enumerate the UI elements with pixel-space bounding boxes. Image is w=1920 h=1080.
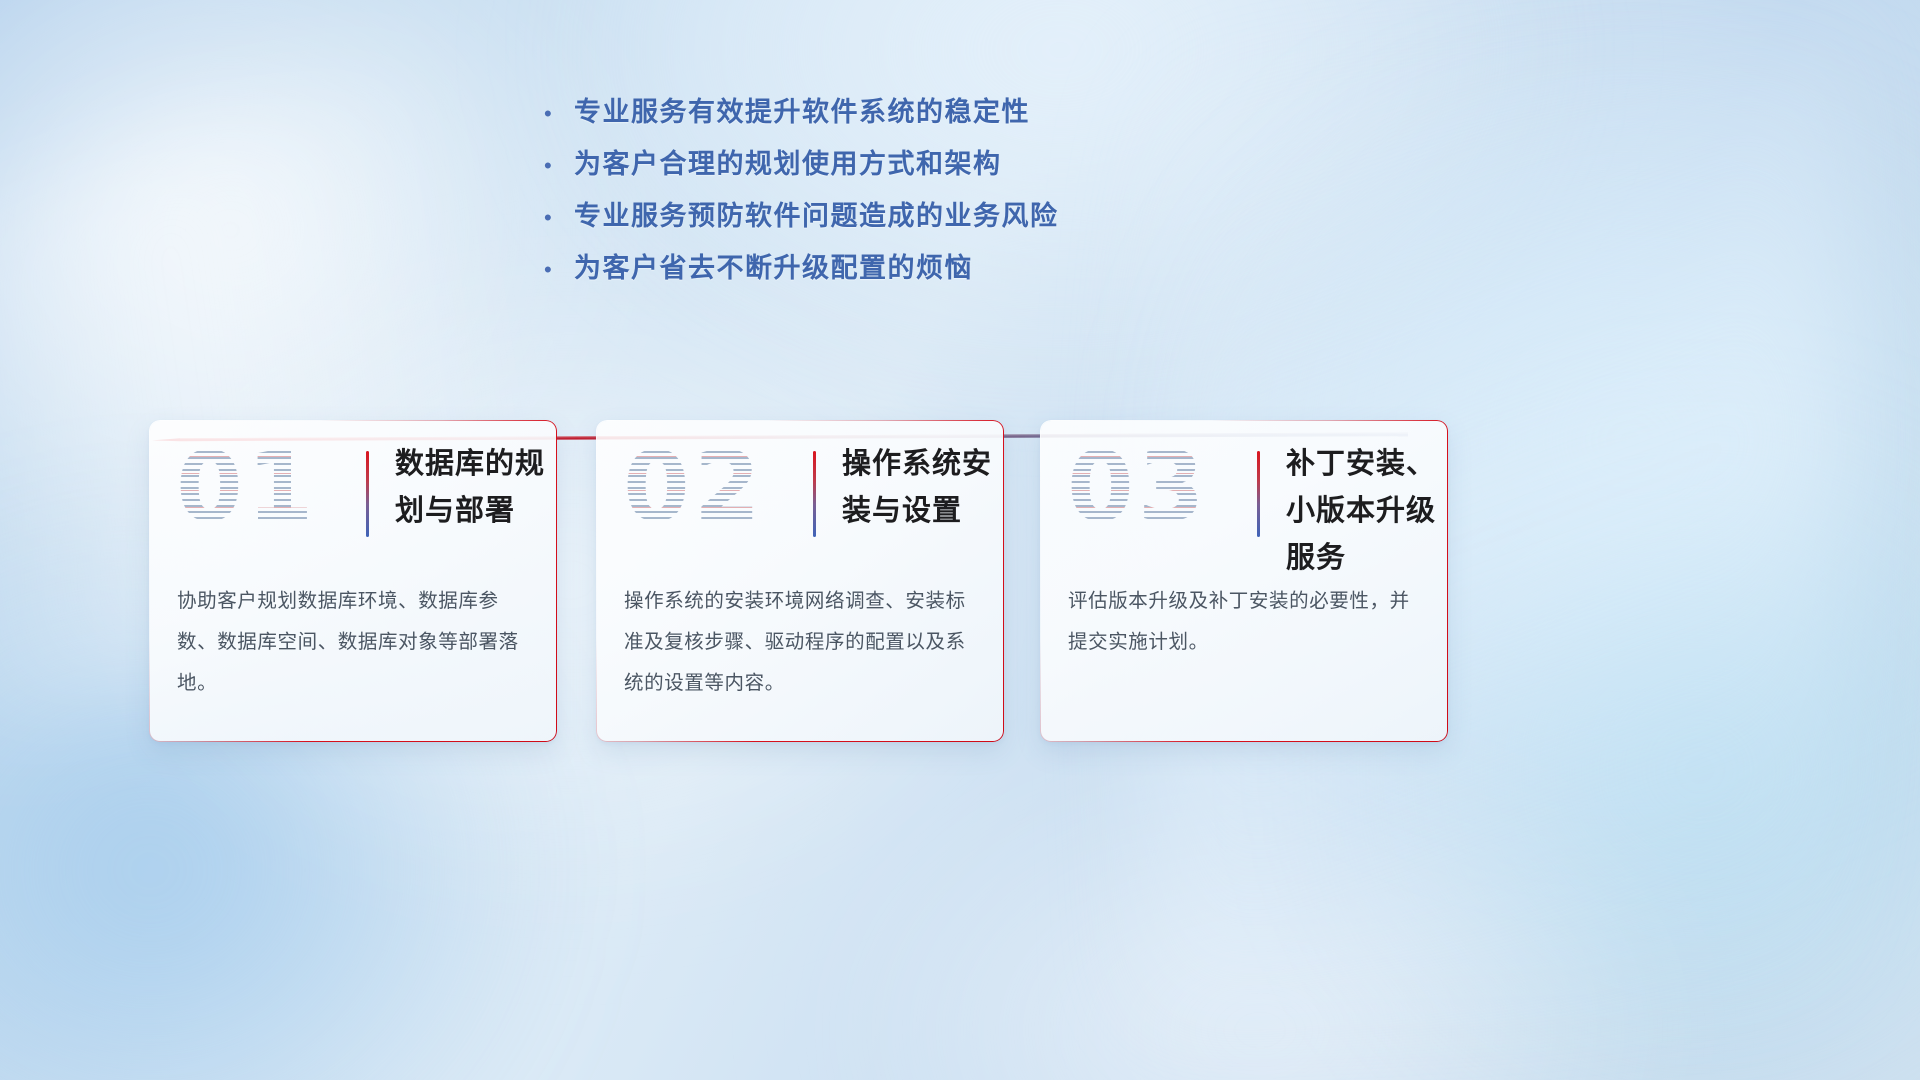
card-number-watermark: 01 bbox=[176, 439, 318, 535]
card-title: 数据库的规划与部署 bbox=[395, 441, 545, 535]
card-body-text: 评估版本升级及补丁安装的必要性，并提交实施计划。 bbox=[1068, 581, 1423, 663]
card-title: 操作系统安装与设置 bbox=[842, 441, 992, 535]
card-accent-bar bbox=[1257, 451, 1260, 537]
card-header: 02 02 操作系统安装与设置 bbox=[597, 421, 1003, 571]
service-card[interactable]: 01 01 数据库的规划与部署 协助客户规划数据库环境、数据库参数、数据库空间、… bbox=[150, 421, 556, 741]
service-card[interactable]: 02 02 操作系统安装与设置 操作系统的安装环境网络调查、安装标准及复核步骤、… bbox=[597, 421, 1003, 741]
service-card-list: 01 01 数据库的规划与部署 协助客户规划数据库环境、数据库参数、数据库空间、… bbox=[0, 0, 1920, 1080]
card-header: 01 01 数据库的规划与部署 bbox=[150, 421, 556, 571]
service-card[interactable]: 03 03 补丁安装、小版本升级服务 评估版本升级及补丁安装的必要性，并提交实施… bbox=[1041, 421, 1447, 741]
card-number-watermark: 03 bbox=[1067, 439, 1209, 535]
card-accent-bar bbox=[813, 451, 816, 537]
card-header: 03 03 补丁安装、小版本升级服务 bbox=[1041, 421, 1447, 571]
card-number-watermark: 02 bbox=[623, 439, 765, 535]
card-body-text: 协助客户规划数据库环境、数据库参数、数据库空间、数据库对象等部署落地。 bbox=[177, 581, 532, 704]
card-body-text: 操作系统的安装环境网络调查、安装标准及复核步骤、驱动程序的配置以及系统的设置等内… bbox=[624, 581, 979, 704]
card-title: 补丁安装、小版本升级服务 bbox=[1286, 441, 1436, 582]
card-accent-bar bbox=[366, 451, 369, 537]
